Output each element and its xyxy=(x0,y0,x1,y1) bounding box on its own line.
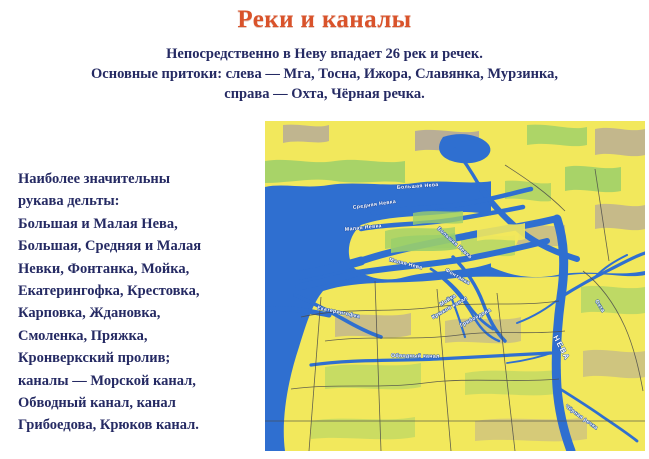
left-text-line-6: Екатерингофка, Крестовка, xyxy=(18,280,258,302)
left-text-line-10: каналы — Морской канал, xyxy=(18,370,258,392)
intro-paragraph: Непосредственно в Неву впадает 26 рек и … xyxy=(0,44,649,104)
intro-line-1: Непосредственно в Неву впадает 26 рек и … xyxy=(0,44,649,64)
map-svg: Большая Нева Средняя Невка Малая Невка Б… xyxy=(265,121,645,451)
left-text-line-1: Наиболее значительны xyxy=(18,168,258,190)
intro-line-2: Основные притоки: слева — Мга, Тосна, Иж… xyxy=(0,64,649,84)
delta-branches-text: Наиболее значительны рукава дельты: Боль… xyxy=(18,168,258,437)
left-text-line-8: Смоленка, Пряжка, xyxy=(18,325,258,347)
left-text-line-11: Обводный канал, канал xyxy=(18,392,258,414)
intro-line-3: справа — Охта, Чёрная речка. xyxy=(0,84,649,104)
left-text-line-7: Карповка, Ждановка, xyxy=(18,302,258,324)
left-text-line-4: Большая, Средняя и Малая xyxy=(18,235,258,257)
page-title: Реки и каналы xyxy=(0,6,649,34)
map-label-obvodny-canal: Обводный канал xyxy=(391,352,440,360)
left-text-line-2: рукава дельты: xyxy=(18,190,258,212)
slide-root: Реки и каналы Непосредственно в Неву впа… xyxy=(0,0,649,459)
left-text-line-12: Грибоедова, Крюков канал. xyxy=(18,414,258,436)
left-text-line-9: Кронверкский пролив; xyxy=(18,347,258,369)
left-text-line-3: Большая и Малая Нева, xyxy=(18,213,258,235)
left-text-line-5: Невки, Фонтанка, Мойка, xyxy=(18,258,258,280)
map-image: Большая Нева Средняя Невка Малая Невка Б… xyxy=(265,121,645,451)
